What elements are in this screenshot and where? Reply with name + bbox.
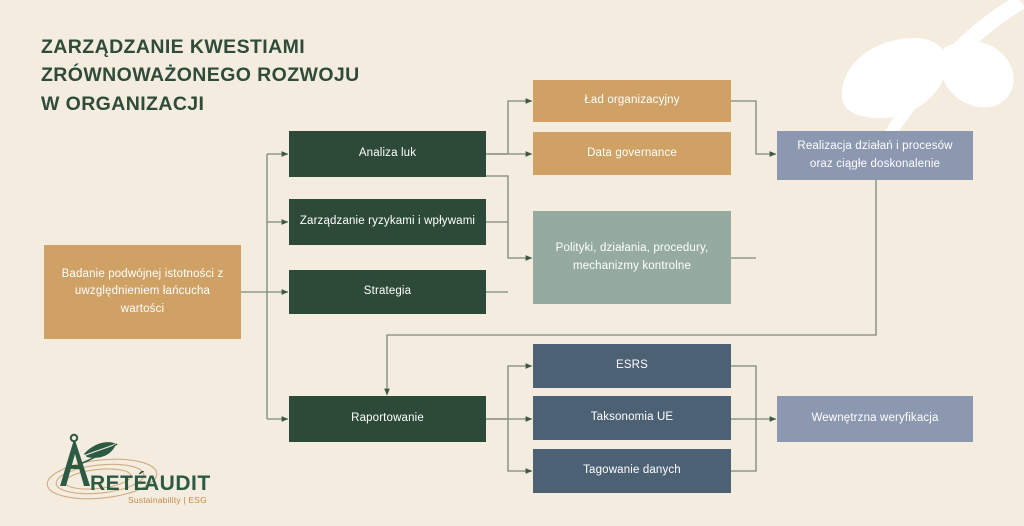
wire-raportowanie-tagowanie <box>508 419 532 471</box>
node-polityki-dzialania[interactable]: Polityki, działania, procedury, mechaniz… <box>533 211 731 304</box>
node-wewnetrzna-weryfikacja[interactable]: Wewnętrzna weryfikacja <box>777 396 973 442</box>
wire-lad-realizacja <box>731 101 776 154</box>
logo-brand-second: AUDIT <box>144 472 211 495</box>
wire-tagowanie-weryfikacja <box>731 419 756 471</box>
diagram-canvas: ZARZĄDZANIE KWESTIAMI ZRÓWNOWAŻONEGO ROZ… <box>0 0 1024 526</box>
logo-compass-icon <box>60 435 90 486</box>
node-realizacja-dzialan[interactable]: Realizacja działań i procesów oraz ciągł… <box>777 131 973 180</box>
node-raportowanie[interactable]: Raportowanie <box>289 396 486 442</box>
company-logo: RETÉ AUDIT Sustainability | ESG <box>40 424 215 509</box>
wire-analiza-polityki <box>486 176 532 258</box>
wire-raportowanie-esrs <box>486 366 532 419</box>
logo-tagline: Sustainability | ESG <box>128 495 207 505</box>
node-analiza-luk[interactable]: Analiza luk <box>289 131 486 177</box>
node-lad-organizacyjny[interactable]: Ład organizacyjny <box>533 80 731 122</box>
node-esrs[interactable]: ESRS <box>533 344 731 388</box>
wire-esrs-weryfikacja <box>731 366 776 419</box>
node-data-governance[interactable]: Data governance <box>533 132 731 175</box>
node-tagowanie-danych[interactable]: Tagowanie danych <box>533 449 731 493</box>
logo-brand-first: RETÉ <box>90 472 148 495</box>
node-taksonomia-ue[interactable]: Taksonomia UE <box>533 396 731 440</box>
node-zarzadzanie-ryzykami[interactable]: Zarządzanie ryzykami i wpływami <box>289 199 486 245</box>
node-badanie-podwojnej-istotnosci[interactable]: Badanie podwójnej istotności z uwzględni… <box>44 245 241 339</box>
wire-analiza-lad <box>486 101 532 154</box>
node-strategia[interactable]: Strategia <box>289 270 486 314</box>
